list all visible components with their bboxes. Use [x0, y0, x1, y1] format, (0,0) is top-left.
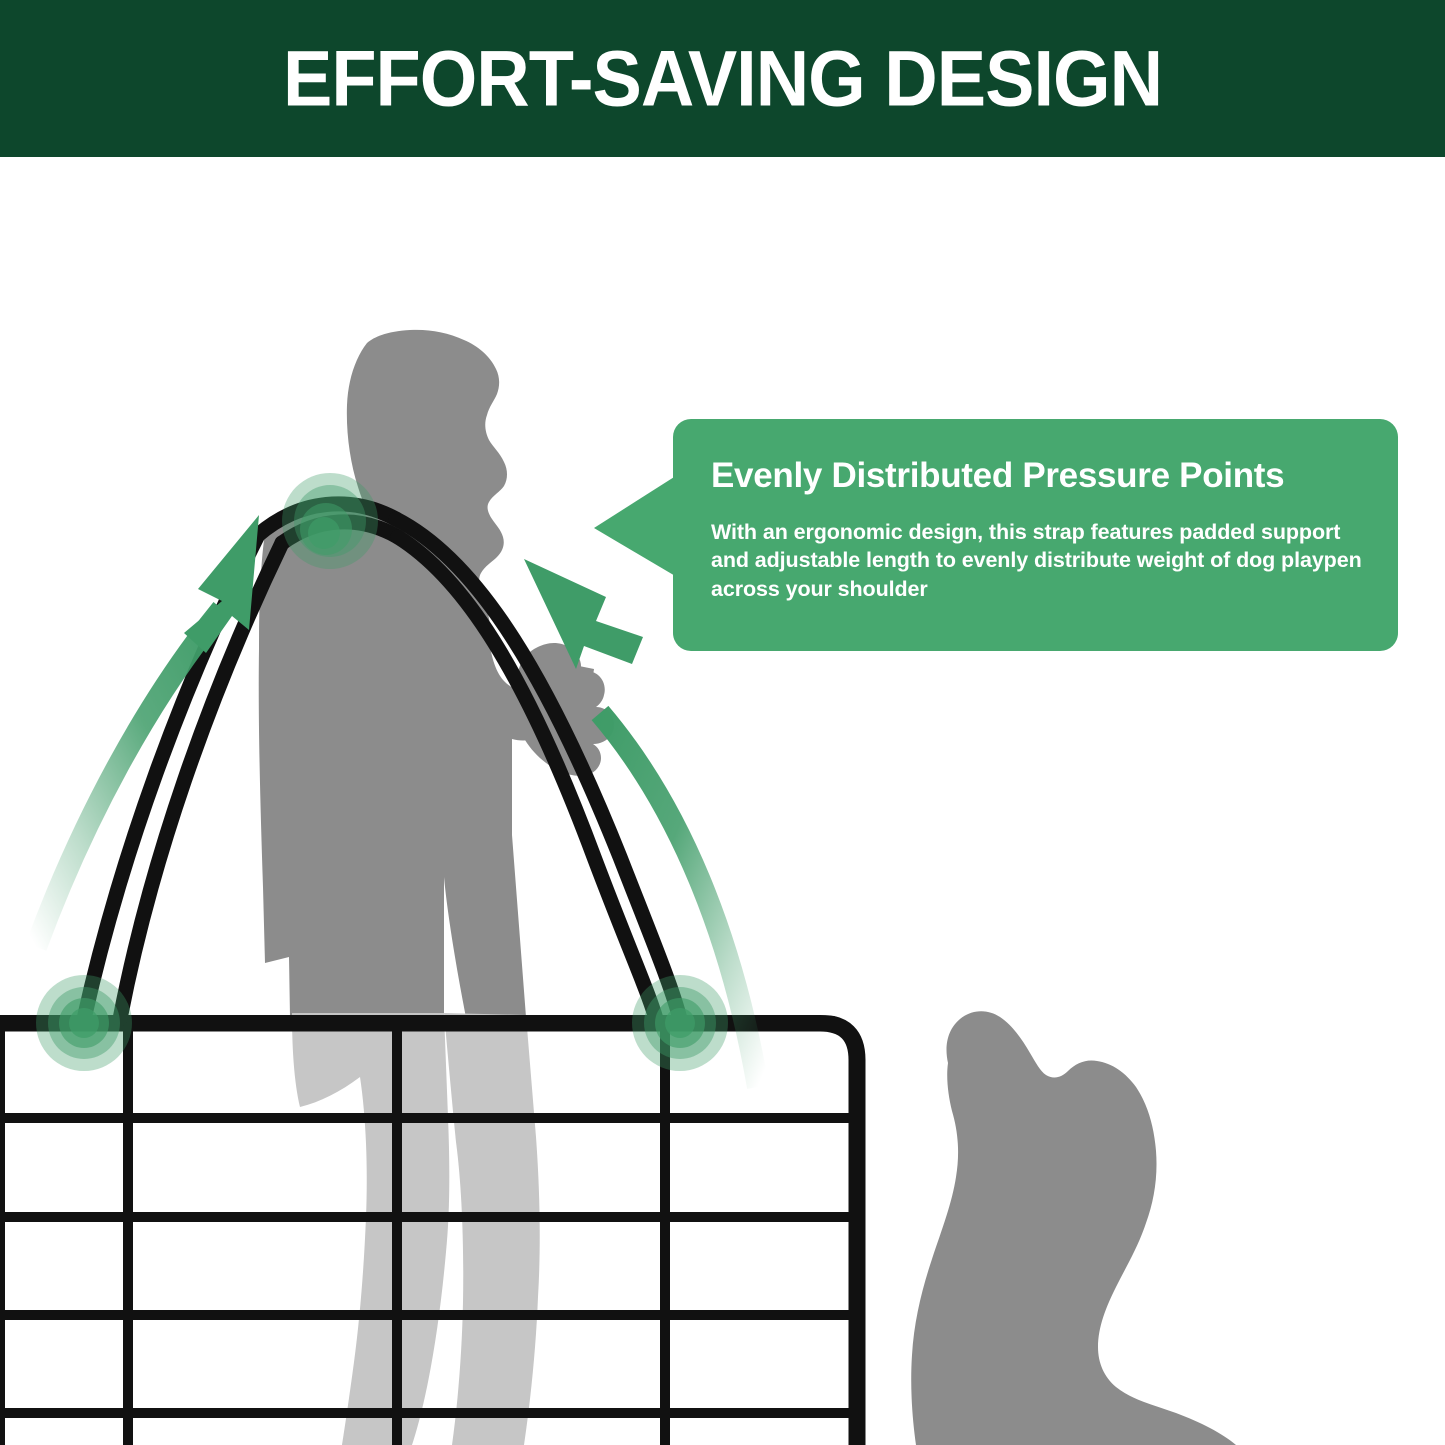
person-leg-front: [292, 1013, 449, 1445]
callout-pointer-triangle: [594, 472, 682, 580]
force-arrow-left-shaft: [36, 609, 222, 947]
pressure-point-right-anchor: [632, 975, 728, 1071]
pressure-point-left-anchor: [36, 975, 132, 1071]
infographic-page: EFFORT-SAVING DESIGN: [0, 0, 1445, 1445]
person-leg-back: [444, 1013, 540, 1445]
callout-body: With an ergonomic design, this strap fea…: [711, 518, 1364, 604]
person-legs: [292, 1013, 540, 1445]
person-silhouette: [259, 330, 614, 1017]
callout-heading: Evenly Distributed Pressure Points: [711, 457, 1364, 496]
strap-left-inner: [120, 543, 282, 1019]
illustration-canvas: [0, 157, 1445, 1445]
callout-box: Evenly Distributed Pressure Points With …: [673, 419, 1398, 651]
callout-pointer: [592, 466, 682, 586]
header-banner: EFFORT-SAVING DESIGN: [0, 0, 1445, 157]
dog-silhouette: [911, 1011, 1236, 1445]
page-title: EFFORT-SAVING DESIGN: [283, 39, 1162, 117]
pressure-point-shoulder: [282, 473, 378, 569]
